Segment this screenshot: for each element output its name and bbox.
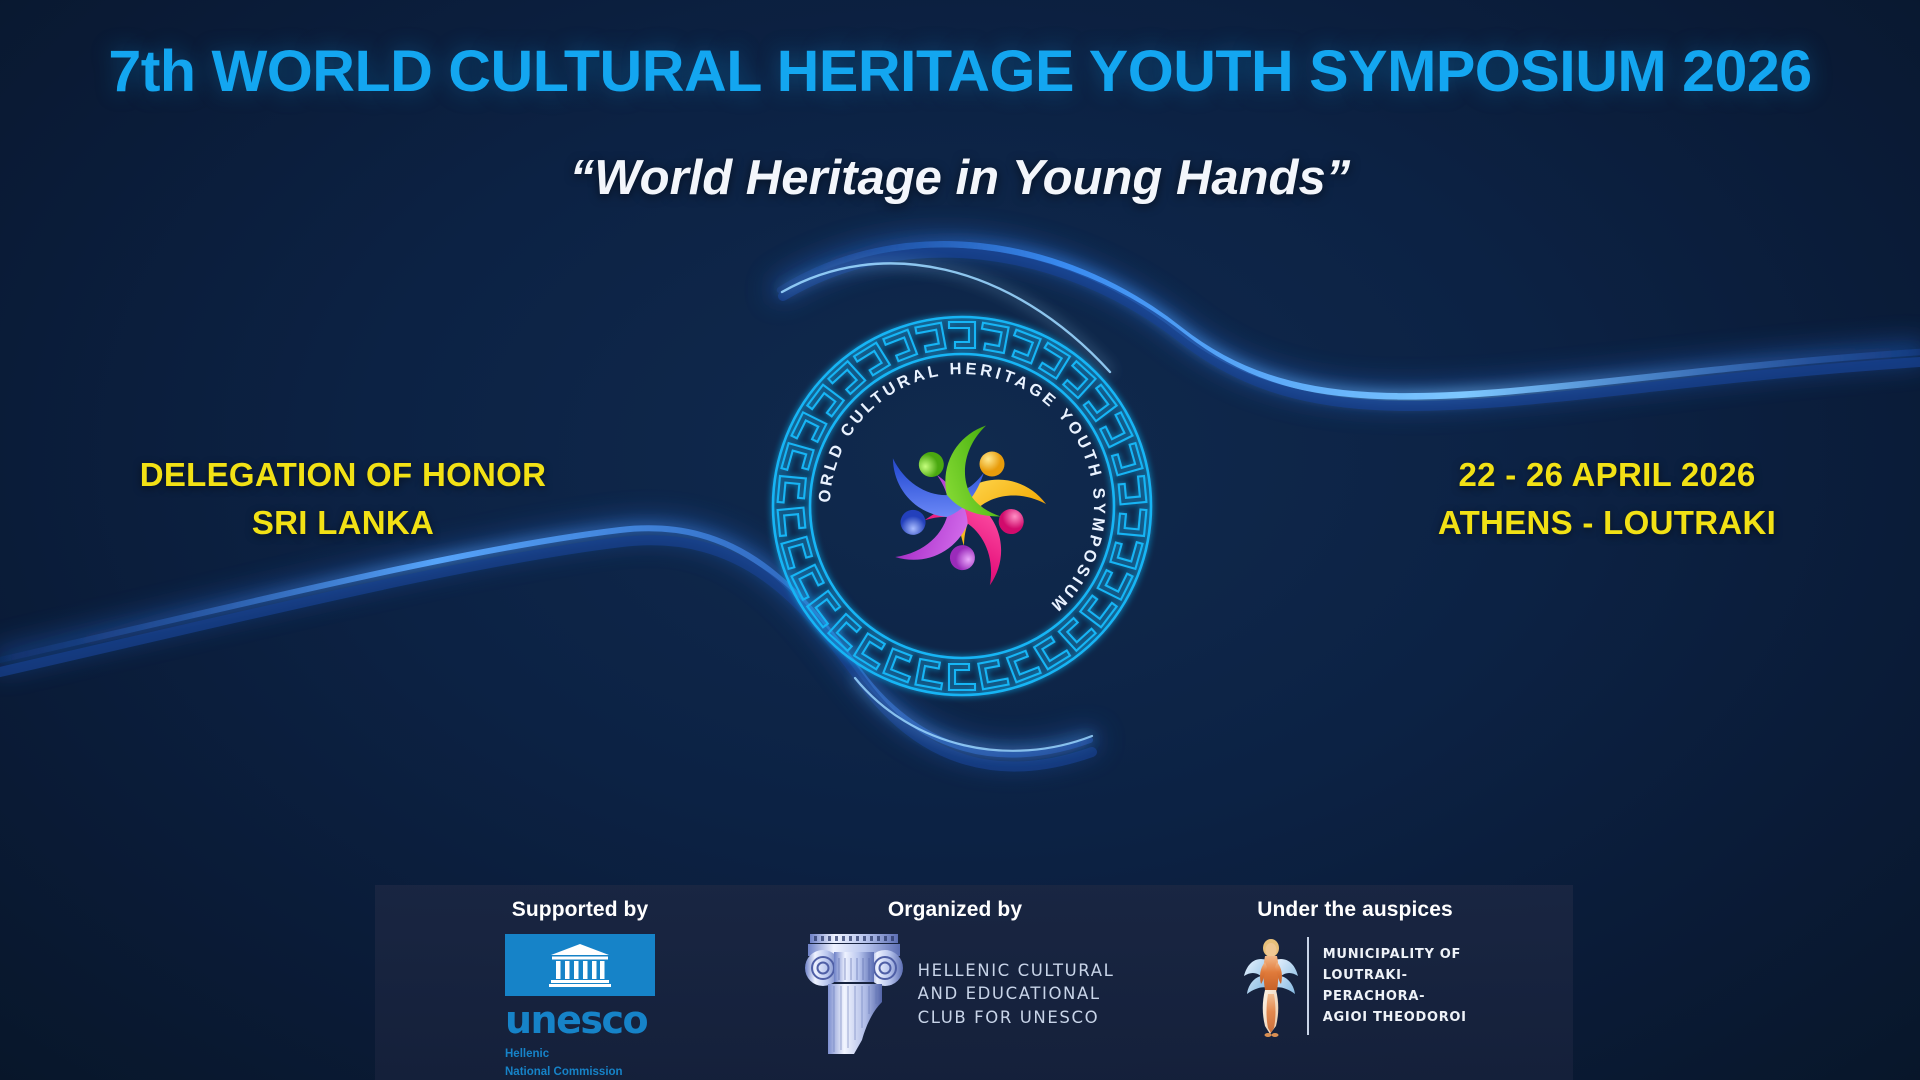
symposium-emblem: ANNUAL WORLD CULTURAL HERITAGE YOUTH SYM… xyxy=(760,304,1164,708)
hellenic-club-line2: AND EDUCATIONAL xyxy=(918,982,1115,1005)
unesco-logo: unesco Hellenic National Commission xyxy=(505,934,655,1080)
page-title: 7th WORLD CULTURAL HERITAGE YOUTH SYMPOS… xyxy=(0,38,1920,105)
municipality-divider xyxy=(1307,937,1309,1035)
sponsor-supported-by: Supported by xyxy=(415,885,745,1080)
unesco-sub-line2: National Commission xyxy=(505,1064,655,1080)
event-location: ATHENS - LOUTRAKI xyxy=(1392,499,1822,547)
sponsor-under-auspices: Under the auspices xyxy=(1175,885,1535,1080)
municipality-line1: MUNICIPALITY OF xyxy=(1323,944,1467,965)
sponsor-label-organized-by: Organized by xyxy=(888,898,1022,922)
sponsor-band: Supported by xyxy=(375,885,1573,1080)
unesco-temple-icon xyxy=(505,934,655,996)
unesco-commission-text: Hellenic National Commission xyxy=(505,1046,655,1080)
municipality-line3: PERACHORA- xyxy=(1323,986,1467,1007)
hellenic-club-line1: HELLENIC CULTURAL xyxy=(918,959,1115,982)
winged-figure-icon xyxy=(1243,934,1299,1038)
hellenic-club-logo: HELLENIC CULTURAL AND EDUCATIONAL CLUB F… xyxy=(796,928,1115,1060)
event-dates: 22 - 26 APRIL 2026 xyxy=(1392,451,1822,499)
poster-root: 7th WORLD CULTURAL HERITAGE YOUTH SYMPOS… xyxy=(0,0,1920,1080)
delegation-of-honor-block: DELEGATION OF HONOR SRI LANKA xyxy=(108,451,578,547)
delegation-country: SRI LANKA xyxy=(108,499,578,547)
event-details-block: 22 - 26 APRIL 2026 ATHENS - LOUTRAKI xyxy=(1392,451,1822,547)
ionic-column-icon xyxy=(796,928,912,1060)
hellenic-club-text: HELLENIC CULTURAL AND EDUCATIONAL CLUB F… xyxy=(918,959,1115,1029)
delegation-label: DELEGATION OF HONOR xyxy=(108,451,578,499)
unesco-wordmark: unesco xyxy=(505,1001,655,1039)
poster-subtitle: “World Heritage in Young Hands” xyxy=(0,150,1920,206)
star-figures-group xyxy=(862,409,1046,599)
municipality-text: MUNICIPALITY OF LOUTRAKI- PERACHORA- AGI… xyxy=(1323,944,1467,1028)
sponsor-label-under-auspices: Under the auspices xyxy=(1257,898,1453,922)
unesco-sub-line1: Hellenic xyxy=(505,1046,655,1064)
municipality-logo: MUNICIPALITY OF LOUTRAKI- PERACHORA- AGI… xyxy=(1243,934,1466,1038)
temple-glyph xyxy=(548,942,612,988)
municipality-line2: LOUTRAKI- xyxy=(1323,965,1467,986)
sponsor-organized-by: Organized by xyxy=(745,885,1165,1080)
municipality-line4: AGIOI THEODOROI xyxy=(1323,1007,1467,1028)
hellenic-club-line3: CLUB FOR UNESCO xyxy=(918,1006,1115,1029)
sponsor-label-supported-by: Supported by xyxy=(512,898,649,922)
